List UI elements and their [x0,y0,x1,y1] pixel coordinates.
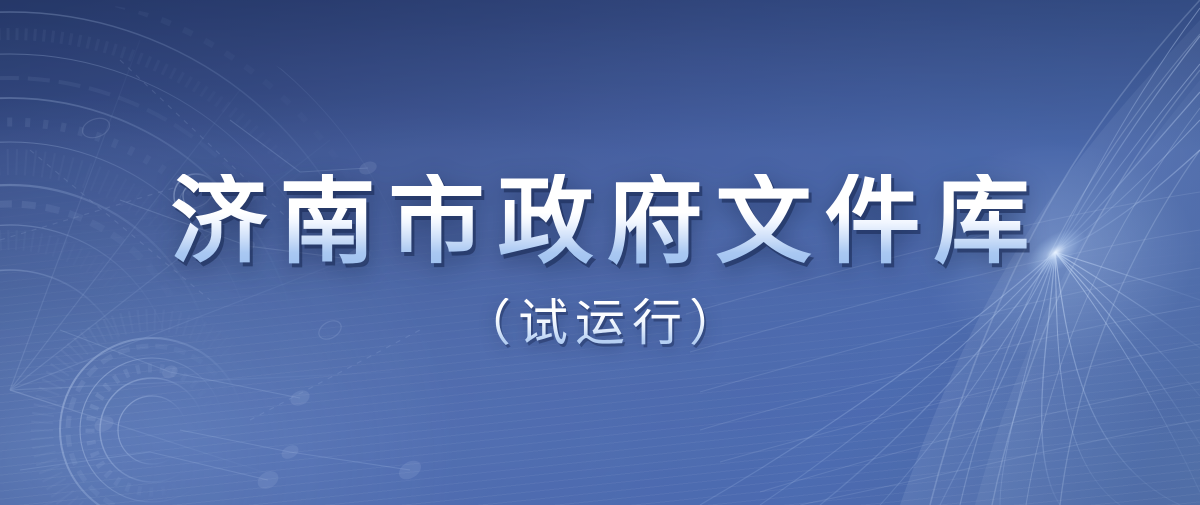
page-title: 济南市政府文件库 [158,174,1043,270]
title-block: 济南市政府文件库 （试运行） [0,0,1200,505]
page-banner: 济南市政府文件库 （试运行） [0,0,1200,505]
page-subtitle: （试运行） [454,298,746,348]
